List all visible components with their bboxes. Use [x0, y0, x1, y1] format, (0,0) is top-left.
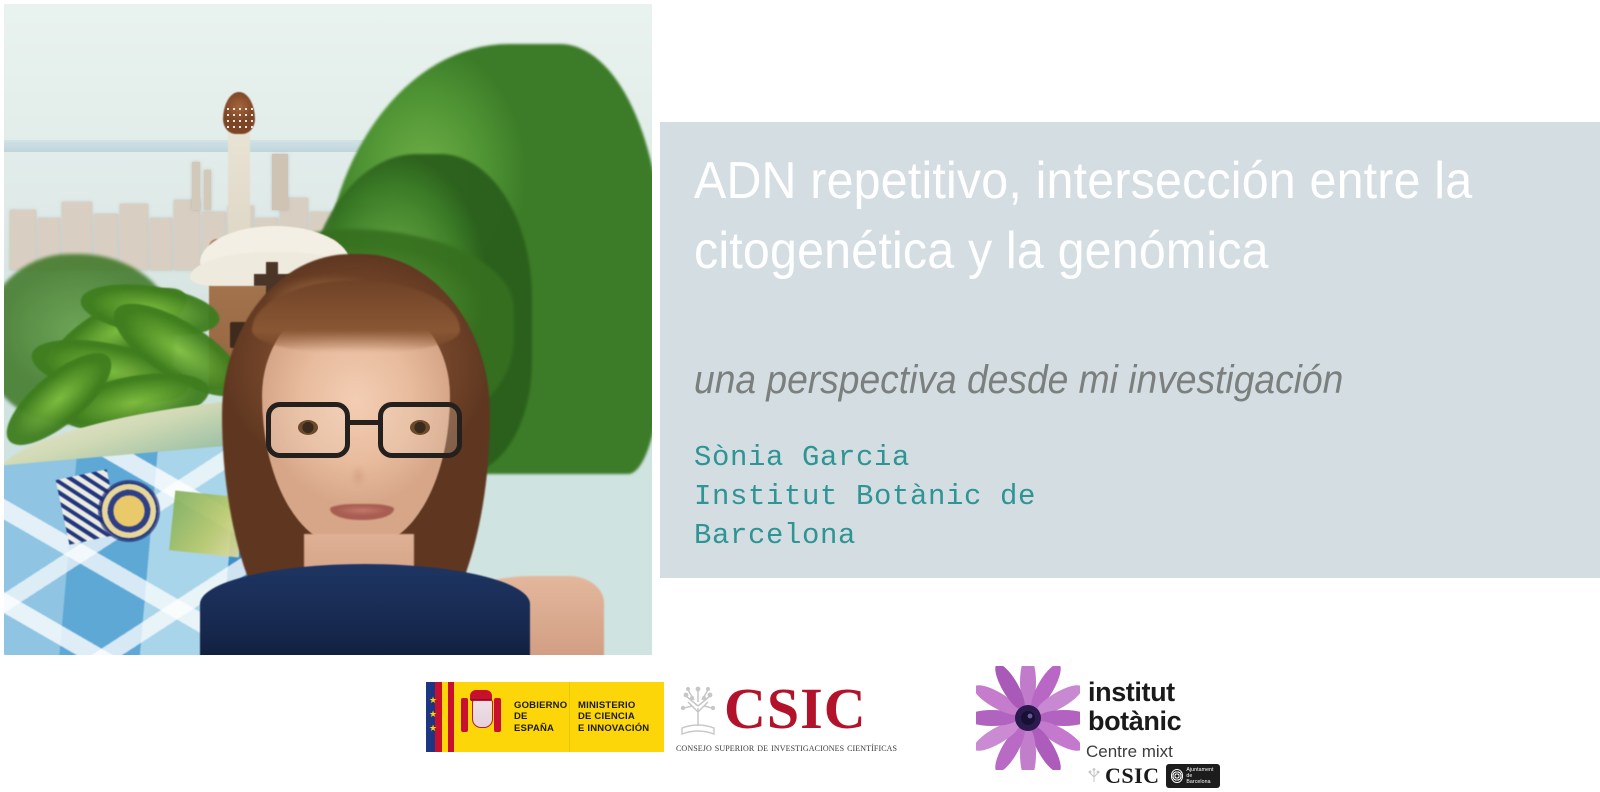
csic-acronym: CSIC	[724, 678, 867, 740]
partner-csic: CSIC	[1086, 765, 1160, 787]
author-affiliation-line1: Institut Botànic de	[694, 477, 1114, 516]
photo-shirt	[200, 564, 530, 655]
photo-glasses-bridge	[350, 420, 378, 425]
photo-glasses	[266, 402, 462, 460]
csic-tree-emblem-mini-icon	[1086, 767, 1102, 785]
author-name: Sònia Garcia	[694, 438, 1114, 477]
csic-tree-emblem-icon	[674, 682, 722, 738]
page-title: ADN repetitivo, intersección entre la ci…	[694, 146, 1494, 286]
gobierno-line1: GOBIERNO	[514, 700, 567, 711]
ajuntament-label: Ajuntament de Barcelona	[1186, 767, 1214, 785]
speaker-photo	[4, 4, 652, 655]
ministerio-line3: E INNOVACIÓN	[578, 723, 649, 734]
purple-daisy-flower-icon	[976, 666, 1080, 770]
institut-botanic-partners: CSIC Ajuntament de Barcelona	[1086, 764, 1220, 788]
ministerio-label: MINISTERIO DE CIENCIA E INNOVACIÓN	[570, 682, 664, 752]
spain-flag-strip-icon: ★ ★ ★	[426, 682, 454, 752]
gobierno-line2: DE ESPAÑA	[514, 711, 554, 734]
eu-blue-band-icon: ★ ★ ★	[426, 682, 435, 752]
gobierno-de-espana-logo: ★ ★ ★ GOBIERNO DE ESPAÑA MINISTERIO DE C…	[426, 682, 664, 752]
institut-botanic-line2: botànic	[1088, 707, 1181, 736]
logo-row: ★ ★ ★ GOBIERNO DE ESPAÑA MINISTERIO DE C…	[420, 660, 1210, 792]
spain-coat-of-arms-icon	[454, 682, 508, 752]
photo-nose	[348, 456, 374, 490]
page-subtitle: una perspectiva desde mi investigación	[694, 354, 1512, 406]
ministerio-line2: DE CIENCIA	[578, 711, 635, 722]
partner-ajuntament-barcelona: Ajuntament de Barcelona	[1166, 764, 1220, 788]
author-block: Sònia Garcia Institut Botànic de Barcelo…	[694, 438, 1114, 555]
gobierno-label: GOBIERNO DE ESPAÑA	[508, 682, 570, 752]
author-affiliation-line2: Barcelona	[694, 516, 1114, 555]
photo-eye-right	[410, 420, 430, 435]
photo-pavilion-tower-pattern	[225, 106, 253, 128]
institut-botanic-name: institut botànic	[1088, 678, 1181, 736]
csic-logo: CSIC Consejo Superior de Investigaciones…	[672, 674, 952, 766]
centre-mixt-label: Centre mixt	[1086, 742, 1173, 762]
photo-eye-left	[298, 420, 318, 435]
title-panel: ADN repetitivo, intersección entre la ci…	[660, 122, 1600, 578]
institut-botanic-logo: institut botànic Centre mixt CSIC A	[968, 660, 1208, 792]
partner-csic-acronym: CSIC	[1105, 765, 1160, 787]
csic-full-name: Consejo Superior de Investigaciones Cien…	[676, 742, 952, 754]
institut-botanic-line1: institut	[1088, 678, 1181, 707]
ministerio-line1: MINISTERIO	[578, 700, 635, 711]
ajuntament-line2: de Barcelona	[1186, 773, 1210, 785]
ajuntament-seal-icon	[1171, 769, 1184, 783]
